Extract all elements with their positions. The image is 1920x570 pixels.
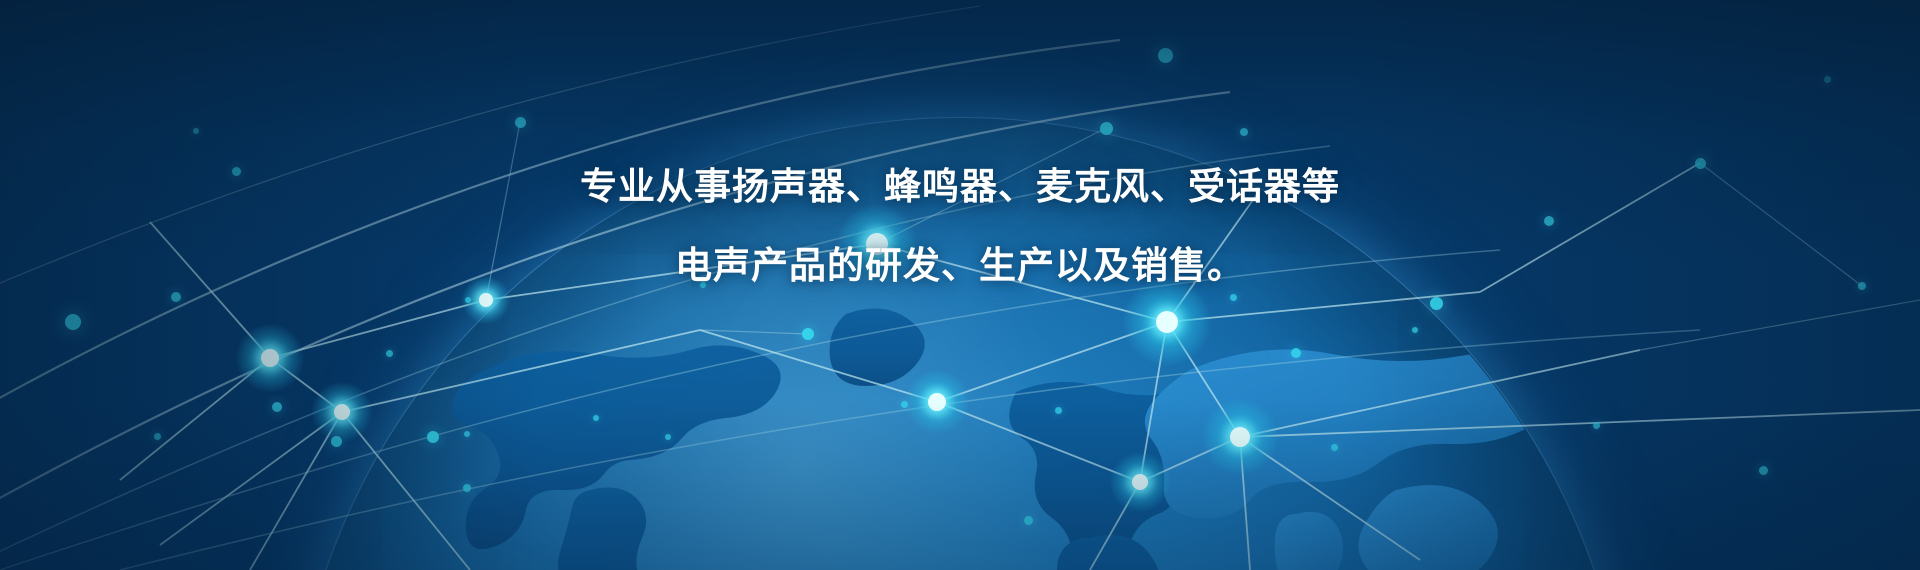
particle-dot <box>1430 297 1443 310</box>
particle-dot <box>193 128 199 134</box>
particle-dot <box>171 292 181 302</box>
particle-dot <box>1593 422 1600 429</box>
particle-dot <box>427 431 439 443</box>
particle-dot <box>515 117 526 128</box>
particle-dot <box>1230 294 1237 301</box>
particle-dot <box>802 328 814 340</box>
particle-dot <box>65 314 81 330</box>
particle-dot <box>464 431 470 437</box>
particle-dot <box>1824 76 1831 83</box>
particle-dot <box>465 297 471 303</box>
particle-dot <box>1291 348 1301 358</box>
network-node <box>1132 474 1148 490</box>
network-node <box>261 349 279 367</box>
network-node <box>334 404 350 420</box>
network-node <box>928 393 946 411</box>
particle-dot <box>665 434 671 440</box>
particle-dot <box>154 433 161 440</box>
hero-banner: 专业从事扬声器、蜂鸣器、麦克风、受话器等 电声产品的研发、生产以及销售。 <box>0 0 1920 570</box>
particle-dot <box>1759 466 1768 475</box>
particle-dot <box>272 402 282 412</box>
particle-dot <box>1024 516 1033 525</box>
particle-dot <box>1412 327 1418 333</box>
particle-dot <box>386 350 393 357</box>
particle-dot <box>1158 48 1173 63</box>
particle-dot <box>1055 407 1062 414</box>
particle-dot <box>1240 128 1248 136</box>
network-node <box>479 293 493 307</box>
particle-dot <box>593 415 599 421</box>
particle-dot <box>331 436 342 447</box>
hero-headline: 专业从事扬声器、蜂鸣器、麦克风、受话器等 电声产品的研发、生产以及销售。 <box>0 168 1920 284</box>
network-node <box>1156 311 1178 333</box>
headline-line-2: 电声产品的研发、生产以及销售。 <box>0 247 1920 284</box>
particle-dot <box>1331 444 1338 451</box>
particle-dot <box>1100 122 1113 135</box>
particle-dot <box>1695 158 1706 169</box>
network-node <box>1230 427 1250 447</box>
particle-dot <box>463 484 471 492</box>
particle-dot <box>901 401 908 408</box>
headline-line-1: 专业从事扬声器、蜂鸣器、麦克风、受话器等 <box>0 168 1920 205</box>
